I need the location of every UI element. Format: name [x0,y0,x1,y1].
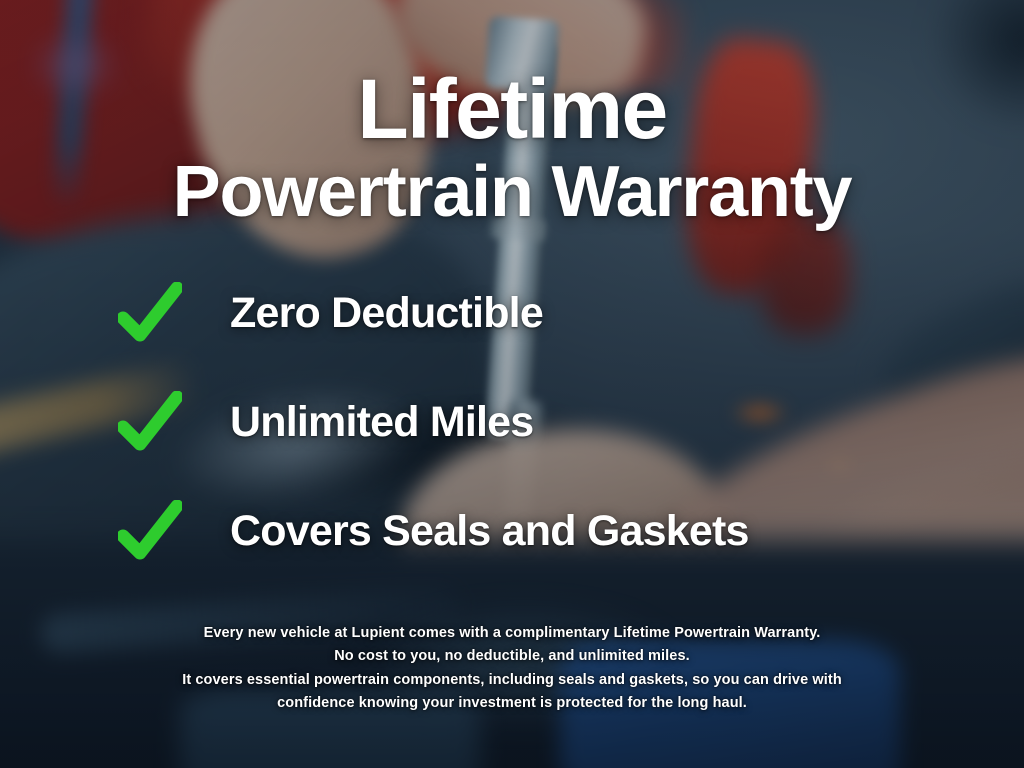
list-item: Zero Deductible [118,282,749,344]
feature-list: Zero Deductible Unlimited Miles Covers S… [118,282,749,562]
description-line-4: confidence knowing your investment is pr… [0,692,1024,715]
description-paragraph: Every new vehicle at Lupient comes with … [0,622,1024,716]
check-icon [118,391,182,453]
list-item-label: Unlimited Miles [230,398,533,447]
title-line-2: Powertrain Warranty [0,158,1024,227]
list-item: Unlimited Miles [118,391,749,453]
description-line-2: No cost to you, no deductible, and unlim… [0,645,1024,668]
description-line-3: It covers essential powertrain component… [0,669,1024,692]
page-title: Lifetime Powertrain Warranty [0,69,1024,227]
check-icon [118,282,182,344]
list-item-label: Zero Deductible [230,289,543,338]
promo-banner: Lifetime Powertrain Warranty Zero Deduct… [0,0,1024,768]
list-item-label: Covers Seals and Gaskets [230,507,749,556]
description-line-1: Every new vehicle at Lupient comes with … [0,622,1024,645]
title-line-1: Lifetime [0,69,1024,150]
check-icon [118,500,182,562]
list-item: Covers Seals and Gaskets [118,500,749,562]
banner-content: Lifetime Powertrain Warranty Zero Deduct… [0,0,1024,768]
